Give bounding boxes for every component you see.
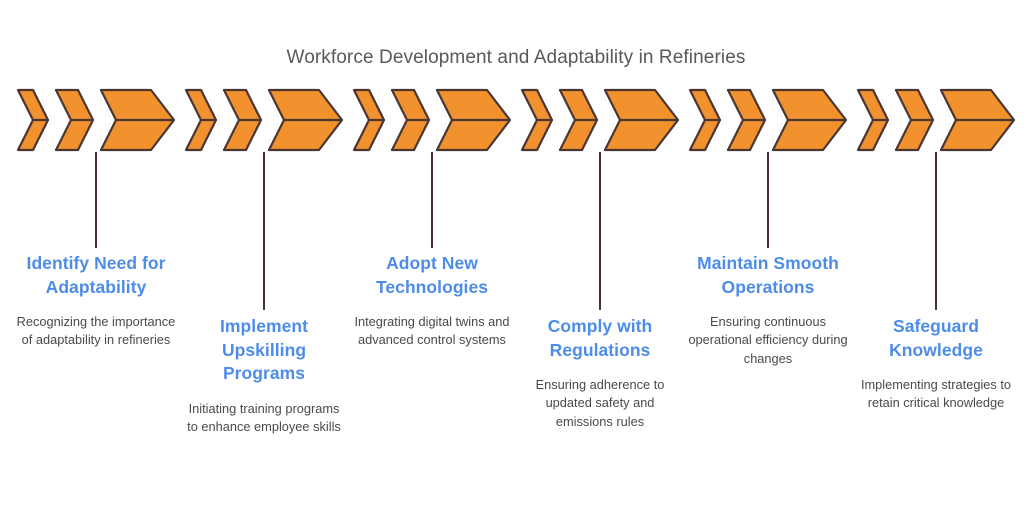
process-step-2: Implement Upskilling Programs Initiating… <box>178 0 350 528</box>
process-diagram: Workforce Development and Adaptability i… <box>0 0 1032 528</box>
step-text-block-6: Safeguard Knowledge Implementing strateg… <box>850 315 1022 413</box>
step-description-1: Recognizing the importance of adaptabili… <box>16 313 176 349</box>
connector-line-3 <box>431 152 433 248</box>
process-step-6: Safeguard Knowledge Implementing strateg… <box>850 0 1022 528</box>
process-step-3: Adopt New Technologies Integrating digit… <box>346 0 518 528</box>
step-heading-2: Implement Upskilling Programs <box>184 315 344 386</box>
connector-line-6 <box>935 152 937 310</box>
connector-line-1 <box>95 152 97 248</box>
connector-line-4 <box>599 152 601 310</box>
connector-line-2 <box>263 152 265 310</box>
step-heading-5: Maintain Smooth Operations <box>688 252 848 299</box>
connector-line-5 <box>767 152 769 248</box>
chevron-group-icon-5 <box>688 88 848 152</box>
step-text-block-2: Implement Upskilling Programs Initiating… <box>178 315 350 436</box>
chevron-group-icon-2 <box>184 88 344 152</box>
chevron-group-icon-6 <box>856 88 1016 152</box>
chevron-group-icon-1 <box>16 88 176 152</box>
step-description-3: Integrating digital twins and advanced c… <box>352 313 512 349</box>
step-heading-3: Adopt New Technologies <box>352 252 512 299</box>
chevron-group-icon-4 <box>520 88 680 152</box>
step-text-block-4: Comply with Regulations Ensuring adheren… <box>514 315 686 431</box>
step-heading-1: Identify Need for Adaptability <box>16 252 176 299</box>
process-step-5: Maintain Smooth Operations Ensuring cont… <box>682 0 854 528</box>
step-description-5: Ensuring continuous operational efficien… <box>688 313 848 367</box>
step-text-block-1: Identify Need for Adaptability Recognizi… <box>10 252 182 350</box>
step-text-block-5: Maintain Smooth Operations Ensuring cont… <box>682 252 854 368</box>
process-step-1: Identify Need for Adaptability Recognizi… <box>10 0 182 528</box>
chevron-group-icon-3 <box>352 88 512 152</box>
step-text-block-3: Adopt New Technologies Integrating digit… <box>346 252 518 350</box>
step-description-6: Implementing strategies to retain critic… <box>856 376 1016 412</box>
step-description-4: Ensuring adherence to updated safety and… <box>520 376 680 430</box>
step-description-2: Initiating training programs to enhance … <box>184 400 344 436</box>
step-heading-6: Safeguard Knowledge <box>856 315 1016 362</box>
step-heading-4: Comply with Regulations <box>520 315 680 362</box>
process-step-4: Comply with Regulations Ensuring adheren… <box>514 0 686 528</box>
